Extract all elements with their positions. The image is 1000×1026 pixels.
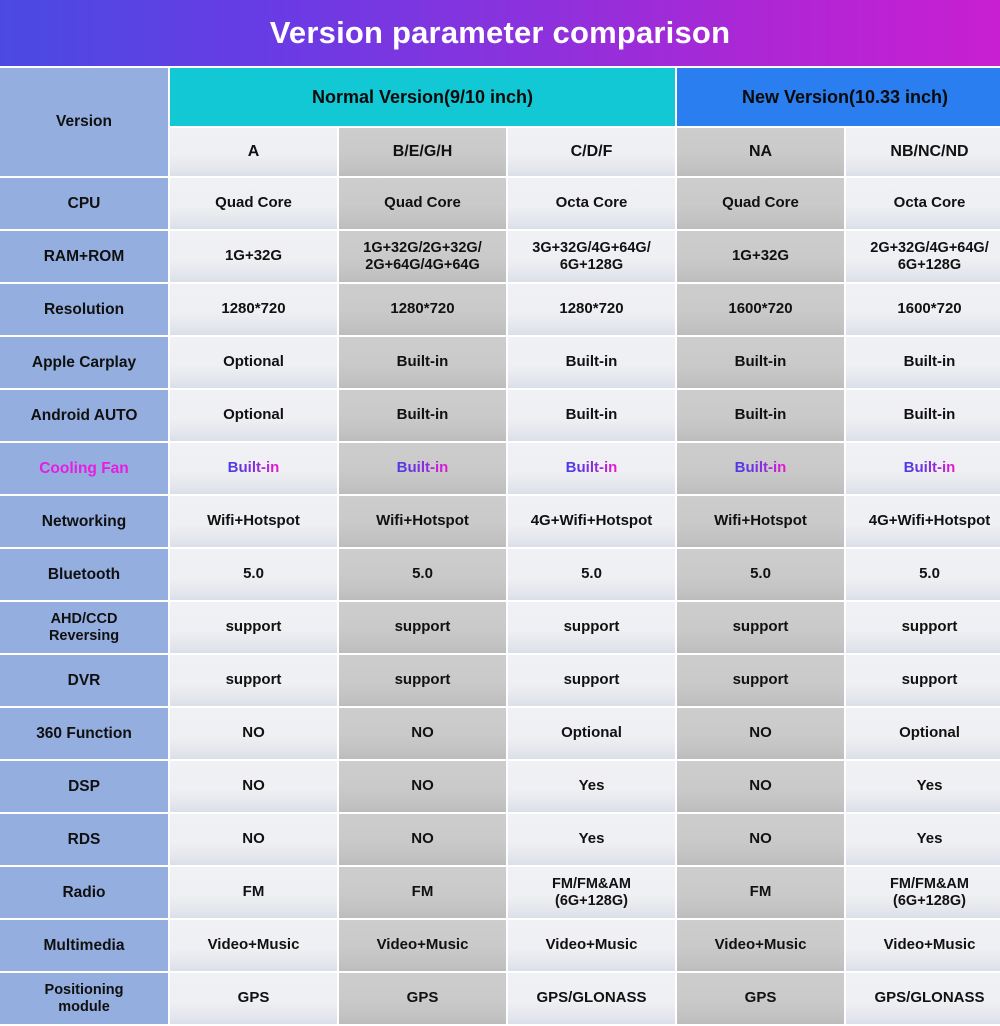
cell-resolution-c-d-f: 1280*720 xyxy=(508,284,675,335)
page-title: Version parameter comparison xyxy=(270,15,730,51)
cell-dvr-b-e-g-h: support xyxy=(339,655,506,706)
row-label-ram-rom: RAM+ROM xyxy=(0,231,168,282)
table-row: Android AUTOOptionalBuilt-inBuilt-inBuil… xyxy=(0,390,1000,441)
row-label-cooling-fan: Cooling Fan xyxy=(0,443,168,494)
cell-multimedia-nb-nc-nd: Video+Music xyxy=(846,920,1000,971)
cell-ram-rom-a: 1G+32G xyxy=(170,231,337,282)
variant-header-c-d-f: C/D/F xyxy=(508,128,675,176)
cell-dvr-c-d-f: support xyxy=(508,655,675,706)
cooling-fan-value: Built-in xyxy=(397,459,449,476)
table-row: Bluetooth5.05.05.05.05.0 xyxy=(0,549,1000,600)
variant-header-na: NA xyxy=(677,128,844,176)
table-row: MultimediaVideo+MusicVideo+MusicVideo+Mu… xyxy=(0,920,1000,971)
cell-dsp-b-e-g-h: NO xyxy=(339,761,506,812)
row-label-dvr: DVR xyxy=(0,655,168,706)
cell-cooling-fan-c-d-f: Built-in xyxy=(508,443,675,494)
cell-networking-b-e-g-h: Wifi+Hotspot xyxy=(339,496,506,547)
cell-360-function-a: NO xyxy=(170,708,337,759)
table-header-row-groups: VersionNormal Version(9/10 inch)New Vers… xyxy=(0,68,1000,126)
cell-bluetooth-b-e-g-h: 5.0 xyxy=(339,549,506,600)
cell-rds-na: NO xyxy=(677,814,844,865)
row-label-bluetooth: Bluetooth xyxy=(0,549,168,600)
cell-ahd-ccd-reversing-a: support xyxy=(170,602,337,653)
cell-apple-carplay-a: Optional xyxy=(170,337,337,388)
cell-positioning-module-na: GPS xyxy=(677,973,844,1024)
cell-networking-c-d-f: 4G+Wifi+Hotspot xyxy=(508,496,675,547)
cell-ahd-ccd-reversing-nb-nc-nd: support xyxy=(846,602,1000,653)
table-row: DVRsupportsupportsupportsupportsupport xyxy=(0,655,1000,706)
cell-ram-rom-c-d-f: 3G+32G/4G+64G/6G+128G xyxy=(508,231,675,282)
cell-cpu-c-d-f: Octa Core xyxy=(508,178,675,229)
table-row: PositioningmoduleGPSGPSGPS/GLONASSGPSGPS… xyxy=(0,973,1000,1024)
cell-cooling-fan-na: Built-in xyxy=(677,443,844,494)
row-label-rds: RDS xyxy=(0,814,168,865)
table-row: NetworkingWifi+HotspotWifi+Hotspot4G+Wif… xyxy=(0,496,1000,547)
cell-radio-c-d-f: FM/FM&AM(6G+128G) xyxy=(508,867,675,918)
cell-cpu-a: Quad Core xyxy=(170,178,337,229)
cell-rds-b-e-g-h: NO xyxy=(339,814,506,865)
cell-bluetooth-c-d-f: 5.0 xyxy=(508,549,675,600)
cell-ram-rom-na: 1G+32G xyxy=(677,231,844,282)
cell-ram-rom-nb-nc-nd: 2G+32G/4G+64G/6G+128G xyxy=(846,231,1000,282)
cell-radio-a: FM xyxy=(170,867,337,918)
cell-cpu-nb-nc-nd: Octa Core xyxy=(846,178,1000,229)
row-label-360-function: 360 Function xyxy=(0,708,168,759)
corner-label-version: Version xyxy=(0,68,168,176)
cell-cooling-fan-a: Built-in xyxy=(170,443,337,494)
cell-ahd-ccd-reversing-c-d-f: support xyxy=(508,602,675,653)
cell-dvr-a: support xyxy=(170,655,337,706)
cell-radio-na: FM xyxy=(677,867,844,918)
cell-dvr-nb-nc-nd: support xyxy=(846,655,1000,706)
table-row: Apple CarplayOptionalBuilt-inBuilt-inBui… xyxy=(0,337,1000,388)
cell-android-auto-b-e-g-h: Built-in xyxy=(339,390,506,441)
cell-apple-carplay-c-d-f: Built-in xyxy=(508,337,675,388)
cell-radio-nb-nc-nd: FM/FM&AM(6G+128G) xyxy=(846,867,1000,918)
cell-360-function-b-e-g-h: NO xyxy=(339,708,506,759)
table-row: CPUQuad CoreQuad CoreOcta CoreQuad CoreO… xyxy=(0,178,1000,229)
cell-multimedia-a: Video+Music xyxy=(170,920,337,971)
cell-resolution-na: 1600*720 xyxy=(677,284,844,335)
table-body: VersionNormal Version(9/10 inch)New Vers… xyxy=(0,68,1000,1024)
cell-positioning-module-a: GPS xyxy=(170,973,337,1024)
cell-bluetooth-nb-nc-nd: 5.0 xyxy=(846,549,1000,600)
cell-ahd-ccd-reversing-na: support xyxy=(677,602,844,653)
cell-ram-rom-b-e-g-h: 1G+32G/2G+32G/2G+64G/4G+64G xyxy=(339,231,506,282)
cell-networking-nb-nc-nd: 4G+Wifi+Hotspot xyxy=(846,496,1000,547)
comparison-page: Version parameter comparison VersionNorm… xyxy=(0,0,1000,1000)
cell-positioning-module-nb-nc-nd: GPS/GLONASS xyxy=(846,973,1000,1024)
cooling-fan-value: Built-in xyxy=(566,459,618,476)
table-row: Cooling FanBuilt-inBuilt-inBuilt-inBuilt… xyxy=(0,443,1000,494)
cell-positioning-module-b-e-g-h: GPS xyxy=(339,973,506,1024)
table-row: RDSNONOYesNOYes xyxy=(0,814,1000,865)
cell-cooling-fan-nb-nc-nd: Built-in xyxy=(846,443,1000,494)
variant-header-nb-nc-nd: NB/NC/ND xyxy=(846,128,1000,176)
cell-networking-na: Wifi+Hotspot xyxy=(677,496,844,547)
cell-dsp-nb-nc-nd: Yes xyxy=(846,761,1000,812)
cell-multimedia-c-d-f: Video+Music xyxy=(508,920,675,971)
variant-header-a: A xyxy=(170,128,337,176)
cell-rds-nb-nc-nd: Yes xyxy=(846,814,1000,865)
cell-radio-b-e-g-h: FM xyxy=(339,867,506,918)
table-row: Resolution1280*7201280*7201280*7201600*7… xyxy=(0,284,1000,335)
cell-apple-carplay-b-e-g-h: Built-in xyxy=(339,337,506,388)
title-banner: Version parameter comparison xyxy=(0,0,1000,66)
row-label-cpu: CPU xyxy=(0,178,168,229)
cell-dsp-a: NO xyxy=(170,761,337,812)
cell-bluetooth-a: 5.0 xyxy=(170,549,337,600)
row-label-dsp: DSP xyxy=(0,761,168,812)
cell-apple-carplay-na: Built-in xyxy=(677,337,844,388)
cooling-fan-value: Built-in xyxy=(735,459,787,476)
cell-bluetooth-na: 5.0 xyxy=(677,549,844,600)
cell-android-auto-na: Built-in xyxy=(677,390,844,441)
table-row: RAM+ROM1G+32G1G+32G/2G+32G/2G+64G/4G+64G… xyxy=(0,231,1000,282)
cell-360-function-na: NO xyxy=(677,708,844,759)
row-label-networking: Networking xyxy=(0,496,168,547)
cell-android-auto-a: Optional xyxy=(170,390,337,441)
cell-android-auto-nb-nc-nd: Built-in xyxy=(846,390,1000,441)
group-header-new-version-10-33-inch: New Version(10.33 inch) xyxy=(677,68,1000,126)
cell-resolution-nb-nc-nd: 1600*720 xyxy=(846,284,1000,335)
cell-rds-c-d-f: Yes xyxy=(508,814,675,865)
cell-dsp-c-d-f: Yes xyxy=(508,761,675,812)
table-row: AHD/CCDReversingsupportsupportsupportsup… xyxy=(0,602,1000,653)
cell-ahd-ccd-reversing-b-e-g-h: support xyxy=(339,602,506,653)
table-row: DSPNONOYesNOYes xyxy=(0,761,1000,812)
row-label-android-auto: Android AUTO xyxy=(0,390,168,441)
cell-cooling-fan-b-e-g-h: Built-in xyxy=(339,443,506,494)
cell-apple-carplay-nb-nc-nd: Built-in xyxy=(846,337,1000,388)
cell-positioning-module-c-d-f: GPS/GLONASS xyxy=(508,973,675,1024)
row-label-positioning-module: Positioningmodule xyxy=(0,973,168,1024)
cell-multimedia-na: Video+Music xyxy=(677,920,844,971)
cell-multimedia-b-e-g-h: Video+Music xyxy=(339,920,506,971)
row-label-apple-carplay: Apple Carplay xyxy=(0,337,168,388)
cell-dvr-na: support xyxy=(677,655,844,706)
cell-networking-a: Wifi+Hotspot xyxy=(170,496,337,547)
cell-rds-a: NO xyxy=(170,814,337,865)
row-label-resolution: Resolution xyxy=(0,284,168,335)
cell-resolution-b-e-g-h: 1280*720 xyxy=(339,284,506,335)
table-row: RadioFMFMFM/FM&AM(6G+128G)FMFM/FM&AM(6G+… xyxy=(0,867,1000,918)
row-label-ahd-ccd-reversing: AHD/CCDReversing xyxy=(0,602,168,653)
variant-header-b-e-g-h: B/E/G/H xyxy=(339,128,506,176)
cell-360-function-c-d-f: Optional xyxy=(508,708,675,759)
cooling-fan-value: Built-in xyxy=(904,459,956,476)
row-label-multimedia: Multimedia xyxy=(0,920,168,971)
cell-dsp-na: NO xyxy=(677,761,844,812)
group-header-normal-version-9-10-inch: Normal Version(9/10 inch) xyxy=(170,68,675,126)
cell-360-function-nb-nc-nd: Optional xyxy=(846,708,1000,759)
version-comparison-table: VersionNormal Version(9/10 inch)New Vers… xyxy=(0,66,1000,1026)
table-row: 360 FunctionNONOOptionalNOOptional xyxy=(0,708,1000,759)
cell-android-auto-c-d-f: Built-in xyxy=(508,390,675,441)
row-label-radio: Radio xyxy=(0,867,168,918)
cell-cpu-na: Quad Core xyxy=(677,178,844,229)
cell-cpu-b-e-g-h: Quad Core xyxy=(339,178,506,229)
cell-resolution-a: 1280*720 xyxy=(170,284,337,335)
cooling-fan-value: Built-in xyxy=(228,459,280,476)
